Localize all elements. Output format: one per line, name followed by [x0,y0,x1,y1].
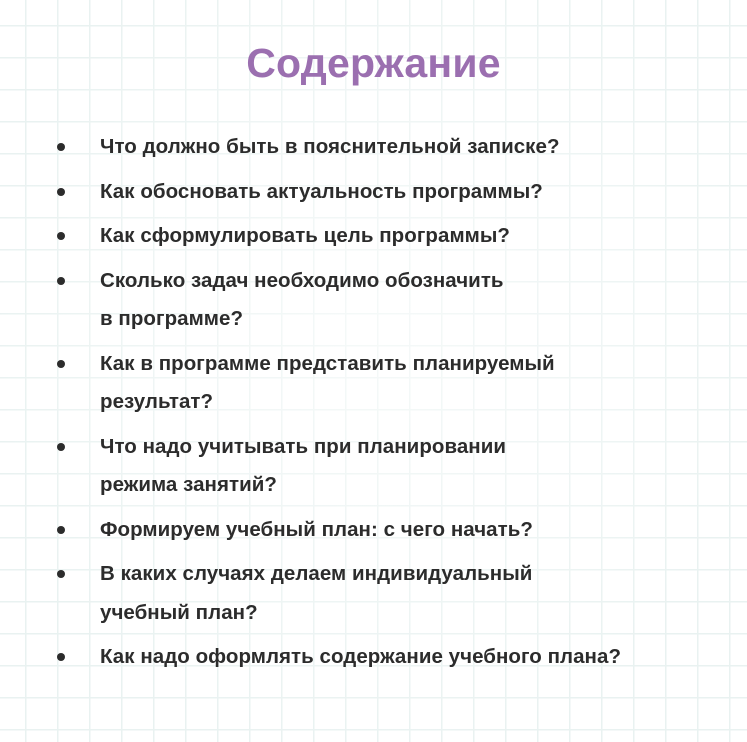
bullet-dot-icon [57,143,65,151]
list-item: Что должно быть в пояснительной записке? [50,128,740,167]
list-item-label: Как в программе представить планируемый … [100,345,740,422]
list-item: Как обосновать актуальность программы? [50,173,740,212]
bullet-dot-icon [57,570,65,578]
list-item-label: Как надо оформлять содержание учебного п… [100,638,740,677]
list-item-label: Как обосновать актуальность программы? [100,173,740,212]
list-item-label: Сколько задач необходимо обозначить в пр… [100,262,740,339]
bullet-dot-icon [57,526,65,534]
bullet-dot-icon [57,188,65,196]
bullet-dot-icon [57,232,65,240]
bullet-dot-icon [57,443,65,451]
slide-content: Содержание Что должно быть в пояснительн… [0,0,747,742]
list-item: В каких случаях делаем индивидуальный уч… [50,555,740,632]
list-item-label: В каких случаях делаем индивидуальный уч… [100,555,740,632]
list-item-label: Что надо учитывать при планировании режи… [100,428,740,505]
list-item: Как надо оформлять содержание учебного п… [50,638,740,677]
list-item: Как сформулировать цель программы? [50,217,740,256]
bullet-dot-icon [57,653,65,661]
list-item: Как в программе представить планируемый … [50,345,740,422]
bullet-dot-icon [57,277,65,285]
list-item-label: Как сформулировать цель программы? [100,217,740,256]
list-item: Что надо учитывать при планировании режи… [50,428,740,505]
page-title: Содержание [0,40,747,87]
slide-canvas: Содержание Что должно быть в пояснительн… [0,0,747,742]
table-of-contents-list: Что должно быть в пояснительной записке?… [50,128,740,683]
list-item: Формируем учебный план: с чего начать? [50,511,740,550]
list-item-label: Формируем учебный план: с чего начать? [100,511,740,550]
bullet-dot-icon [57,360,65,368]
list-item: Сколько задач необходимо обозначить в пр… [50,262,740,339]
list-item-label: Что должно быть в пояснительной записке? [100,128,740,167]
